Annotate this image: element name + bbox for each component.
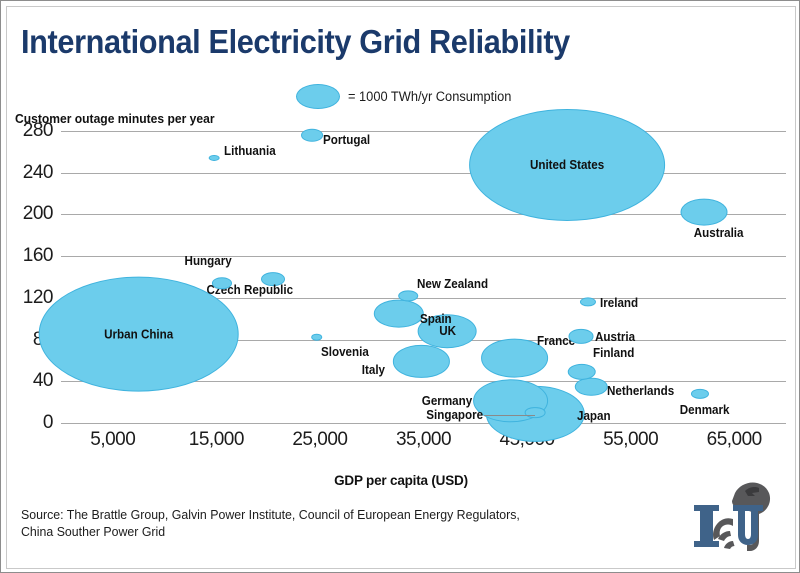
y-tick-label: 40 xyxy=(33,370,53,392)
x-axis-title: GDP per capita (USD) xyxy=(1,473,800,488)
bubble-italy[interactable] xyxy=(393,345,449,377)
bubble-label-spain: Spain xyxy=(420,312,452,326)
bubble-australia[interactable] xyxy=(681,199,728,226)
bubble-lithuania[interactable] xyxy=(209,155,220,161)
bubble-singapore[interactable] xyxy=(525,407,546,419)
bubble-label-hungary: Hungary xyxy=(184,254,231,268)
y-tick-label: 0 xyxy=(43,412,53,434)
size-legend: = 1000 TWh/yr Consumption xyxy=(296,84,520,109)
bubble-label-australia: Australia xyxy=(694,226,744,240)
source-line-1: Source: The Brattle Group, Galvin Power … xyxy=(21,506,520,523)
gridline xyxy=(61,173,786,174)
bubble-label-singapore: Singapore xyxy=(427,408,484,422)
x-tick-label: 55,000 xyxy=(603,429,658,451)
bubble-label: United States xyxy=(530,158,604,172)
leader-line-singapore xyxy=(484,415,535,416)
x-tick-label: 15,000 xyxy=(189,429,244,451)
source-line-2: China Souther Power Grid xyxy=(21,523,520,540)
source-note: Source: The Brattle Group, Galvin Power … xyxy=(21,506,520,540)
bubble-label-slovenia: Slovenia xyxy=(321,345,369,359)
y-tick-label: 120 xyxy=(23,287,53,309)
x-tick-label: 25,000 xyxy=(292,429,347,451)
bubble-netherlands[interactable] xyxy=(575,377,607,396)
bubble-label-finland: Finland xyxy=(593,346,634,360)
bubble-label-italy: Italy xyxy=(362,363,385,377)
plot-area: 04080120160200240280 5,00015,00025,00035… xyxy=(61,131,786,423)
iu-bear-logo xyxy=(689,479,785,559)
bubble-finland[interactable] xyxy=(568,364,597,380)
bubble-portugal[interactable] xyxy=(301,129,323,142)
legend-bubble-icon xyxy=(296,84,340,109)
bubble-label: UK xyxy=(439,324,456,338)
bubble-label-netherlands: Netherlands xyxy=(607,384,674,398)
bubble-label-lithuania: Lithuania xyxy=(224,144,276,158)
logo-letters xyxy=(694,505,763,547)
bubble-new-zealand[interactable] xyxy=(398,290,418,301)
x-tick-label: 35,000 xyxy=(396,429,451,451)
chart-figure: International Electricity Grid Reliabili… xyxy=(0,0,800,573)
bubble-label-japan: Japan xyxy=(577,409,611,423)
bubble-slovenia[interactable] xyxy=(311,334,323,341)
gridline xyxy=(61,214,786,215)
bubble-label: Urban China xyxy=(104,327,173,341)
bubble-label-ireland: Ireland xyxy=(600,296,638,310)
y-tick-label: 280 xyxy=(23,120,53,142)
bubble-ireland[interactable] xyxy=(580,297,596,306)
bubble-austria[interactable] xyxy=(568,329,593,343)
y-tick-label: 200 xyxy=(23,203,53,225)
bubble-label-denmark: Denmark xyxy=(680,403,730,417)
y-tick-label: 240 xyxy=(23,162,53,184)
bubble-label-germany: Germany xyxy=(421,394,471,408)
gridline xyxy=(61,423,786,424)
bubble-label-new-zealand: New Zealand xyxy=(417,277,488,291)
page-title: International Electricity Grid Reliabili… xyxy=(21,23,570,61)
x-tick-label: 5,000 xyxy=(90,429,135,451)
bubble-denmark[interactable] xyxy=(691,389,709,399)
bubble-spain[interactable] xyxy=(373,299,423,328)
legend-label: = 1000 TWh/yr Consumption xyxy=(348,89,511,104)
bubble-label-austria: Austria xyxy=(595,330,635,344)
y-tick-label: 160 xyxy=(23,245,53,267)
x-tick-label: 65,000 xyxy=(707,429,762,451)
bubble-label-portugal: Portugal xyxy=(323,133,370,147)
bubble-united-states[interactable]: United States xyxy=(470,109,666,221)
gridline xyxy=(61,256,786,257)
gridline xyxy=(61,131,786,132)
